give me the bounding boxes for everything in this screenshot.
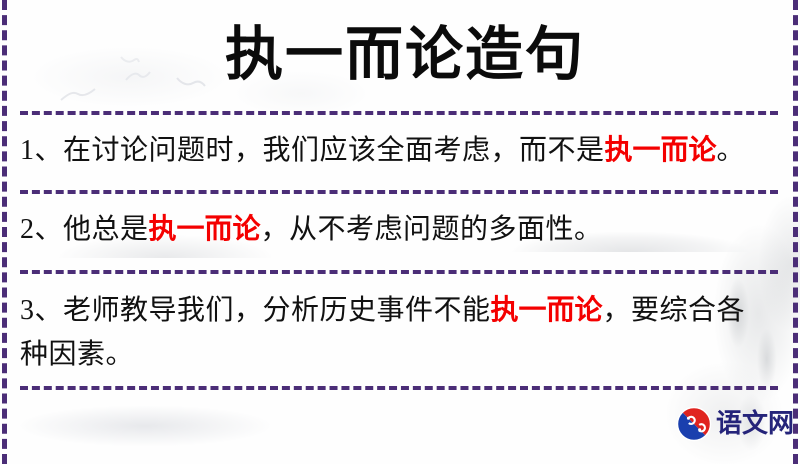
sentence-1-idiom: 执一而论: [605, 133, 717, 166]
slide-canvas: 执一而论造句 1、在讨论问题时，我们应该全面考虑，而不是执一而论。 2、他总是执…: [0, 0, 800, 464]
site-logo-text: 语文网: [716, 409, 794, 439]
site-logo[interactable]: 语文网: [676, 406, 794, 442]
yin-yang-fish-icon: [676, 406, 712, 442]
sentence-2-index: 2、: [20, 214, 63, 245]
watermark-mountain-c: [0, 398, 310, 464]
divider-above-sentence-3: [20, 270, 778, 274]
sentence-3-index: 3、: [20, 295, 63, 326]
sentence-row-2: 2、他总是执一而论，从不考虑问题的多面性。: [20, 207, 768, 252]
sentence-2-idiom: 执一而论: [149, 212, 261, 245]
sentence-row-1: 1、在讨论问题时，我们应该全面考虑，而不是执一而论。: [20, 128, 768, 173]
sentence-2-text-a: 他总是: [63, 214, 149, 245]
divider-above-sentence-2: [20, 190, 778, 194]
divider-above-sentence-1: [20, 111, 778, 115]
sentence-2-text-b: ，从不考虑问题的多面性。: [261, 214, 603, 245]
sentence-3-idiom: 执一而论: [491, 293, 603, 326]
sentence-row-3: 3、老师教导我们，分析历史事件不能执一而论，要综合各种因素。: [20, 288, 768, 377]
page-title: 执一而论造句: [0, 14, 800, 94]
divider-below-sentence-3: [20, 386, 778, 390]
sentence-1-text-b: 。: [717, 135, 746, 166]
sentence-3-text-a: 老师教导我们，分析历史事件不能: [63, 295, 491, 326]
sentence-1-index: 1、: [20, 135, 63, 166]
sentence-1-text-a: 在讨论问题时，我们应该全面考虑，而不是: [63, 135, 605, 166]
